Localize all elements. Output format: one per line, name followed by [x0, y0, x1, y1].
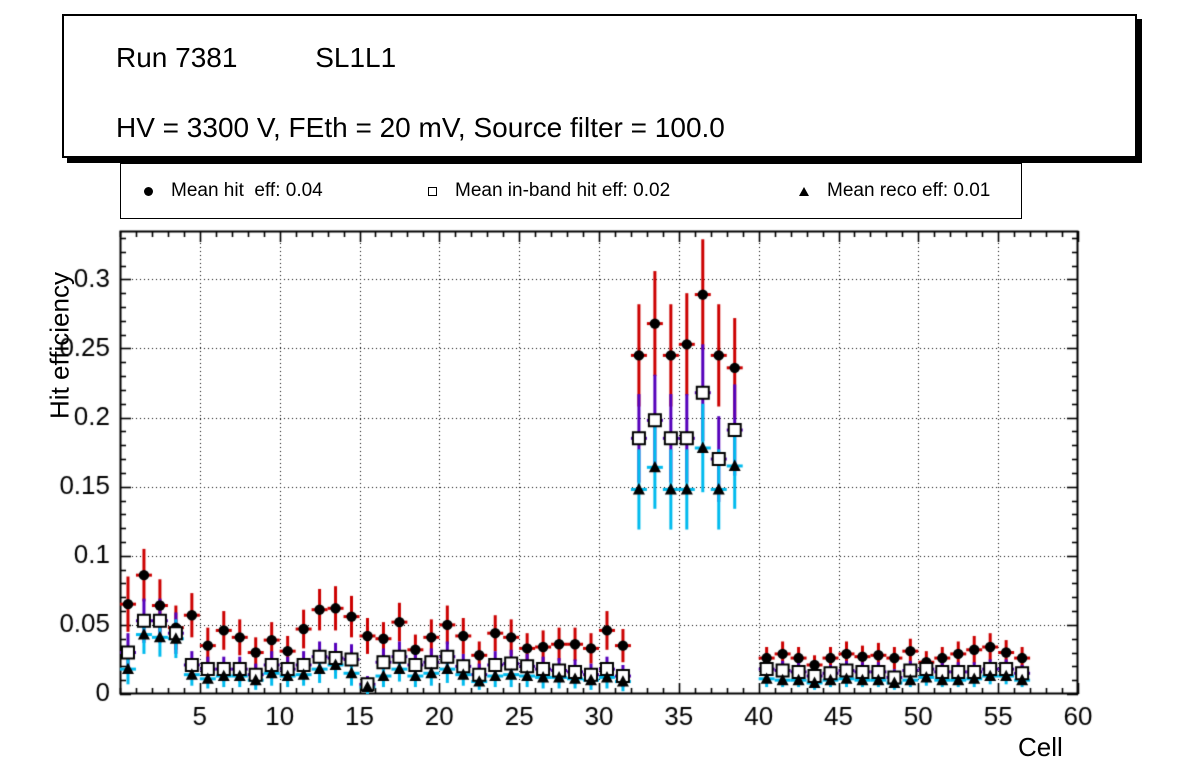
- efficiency-scatter-plot: [0, 0, 1196, 772]
- plot-page: Run 7381 SL1L1 HV = 3300 V, FEth = 20 mV…: [0, 0, 1196, 772]
- y-axis-title: Hit efficiency: [45, 226, 76, 466]
- x-axis-title: Cell: [1018, 732, 1063, 763]
